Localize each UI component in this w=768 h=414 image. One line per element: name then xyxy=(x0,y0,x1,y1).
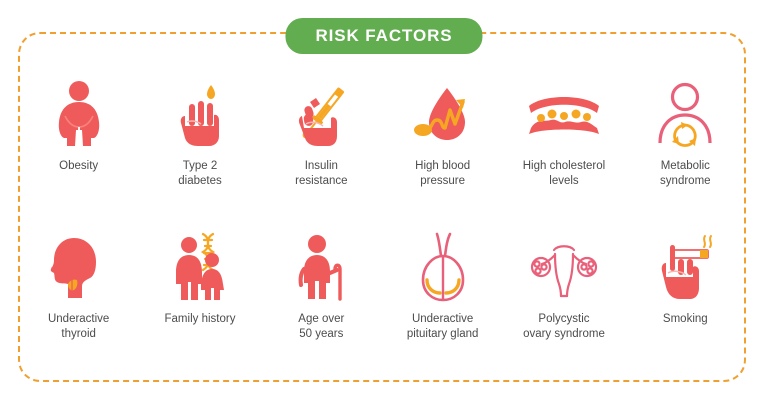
hand-cigarette-icon xyxy=(648,231,722,303)
person-cycle-icon xyxy=(648,78,722,150)
risk-factor-item-smoking: Smoking xyxy=(625,217,746,370)
risk-factor-row-2: Underactive thyroid xyxy=(18,217,746,370)
risk-factor-item-obesity: Obesity xyxy=(18,64,139,217)
elderly-cane-icon xyxy=(284,231,358,303)
risk-factor-item-high-blood-pressure: High blood pressure xyxy=(382,64,503,217)
page-title: RISK FACTORS xyxy=(285,18,482,54)
risk-factor-label: Smoking xyxy=(663,312,708,327)
risk-factor-item-high-cholesterol: High cholesterol levels xyxy=(503,64,624,217)
risk-factor-label: High blood pressure xyxy=(415,159,470,189)
risk-factor-item-metabolic-syndrome: Metabolic syndrome xyxy=(625,64,746,217)
blood-drop-finger-icon xyxy=(163,78,237,150)
risk-factor-item-insulin-resistance: Insulin resistance xyxy=(261,64,382,217)
risk-factor-label: Family history xyxy=(165,312,236,327)
uterus-ovaries-icon xyxy=(527,231,601,303)
risk-factor-label: High cholesterol levels xyxy=(523,159,605,189)
obesity-icon xyxy=(42,78,116,150)
risk-factor-label: Metabolic syndrome xyxy=(660,159,711,189)
risk-factor-label: Underactive pituitary gland xyxy=(407,312,479,342)
risk-factor-item-family-history: Family history xyxy=(139,217,260,370)
infographic-poster: RISK FACTORS Obesity xyxy=(0,0,768,414)
risk-factor-label: Age over 50 years xyxy=(298,312,344,342)
risk-factor-label: Insulin resistance xyxy=(295,159,347,189)
blood-drop-arrow-icon xyxy=(406,78,480,150)
head-thyroid-icon xyxy=(42,231,116,303)
risk-factor-item-age-over-50: Age over 50 years xyxy=(261,217,382,370)
risk-factor-label: Type 2 diabetes xyxy=(178,159,221,189)
risk-factor-label: Underactive thyroid xyxy=(48,312,109,342)
pituitary-gland-icon xyxy=(406,231,480,303)
risk-factor-label: Obesity xyxy=(59,159,98,174)
risk-factor-item-underactive-pituitary: Underactive pituitary gland xyxy=(382,217,503,370)
risk-factor-item-type-2-diabetes: Type 2 diabetes xyxy=(139,64,260,217)
risk-factor-grid: Obesity Type 2 diabetes xyxy=(18,64,746,370)
family-dna-icon xyxy=(163,231,237,303)
artery-plaque-icon xyxy=(527,78,601,150)
risk-factor-item-underactive-thyroid: Underactive thyroid xyxy=(18,217,139,370)
risk-factor-row-1: Obesity Type 2 diabetes xyxy=(18,64,746,217)
hand-syringe-icon xyxy=(284,78,358,150)
risk-factor-label: Polycystic ovary syndrome xyxy=(523,312,605,342)
risk-factor-item-pcos: Polycystic ovary syndrome xyxy=(503,217,624,370)
